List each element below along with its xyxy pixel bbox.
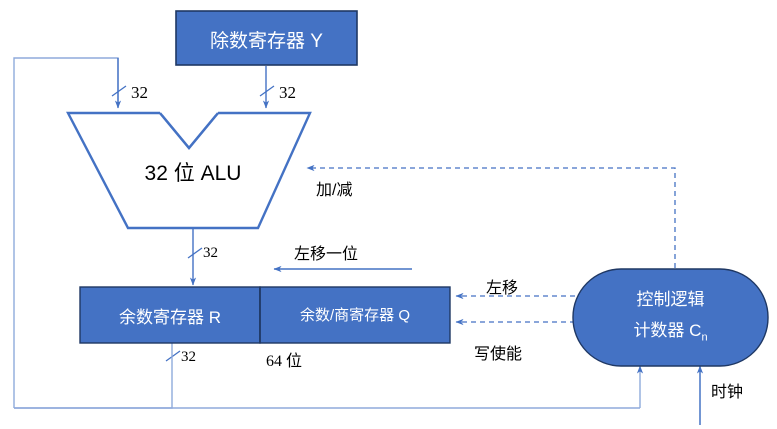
clock-label: 时钟 [711, 378, 743, 402]
control-logic-subscript: n [701, 331, 707, 343]
control-logic-label-line2: 计数器 Cn [573, 316, 768, 343]
bus-width-register-out-label: 32 [181, 349, 196, 366]
shift-left-one-label: 左移一位 [294, 240, 358, 264]
shift-left-label: 左移 [486, 274, 518, 298]
remainder-register-label: 余数寄存器 R [80, 303, 260, 328]
bus-width-right-top-label: 32 [279, 83, 296, 103]
diagram-vector-layer [0, 0, 777, 429]
quotient-register-label: 余数/商寄存器 Q [260, 304, 450, 325]
register-total-width-label: 64 位 [266, 347, 302, 371]
control-logic-label-line1: 控制逻辑 [573, 285, 768, 310]
divisor-register-label: 除数寄存器 Y [176, 26, 357, 53]
alu-label: 32 位 ALU [128, 157, 258, 187]
bus-width-left-top-label: 32 [131, 83, 148, 103]
diagram-canvas: 除数寄存器 Y 32 位 ALU 余数寄存器 R 余数/商寄存器 Q 控制逻辑 … [0, 0, 777, 429]
bus-width-alu-out-label: 32 [203, 245, 218, 262]
add-sub-control-line [307, 168, 675, 268]
add-sub-label: 加/减 [316, 176, 352, 200]
control-logic-counter-text: 计数器 C [633, 321, 701, 340]
feedback-path-left [14, 58, 118, 408]
write-enable-label: 写使能 [474, 340, 522, 364]
register-output-bottom-bus [14, 343, 640, 408]
